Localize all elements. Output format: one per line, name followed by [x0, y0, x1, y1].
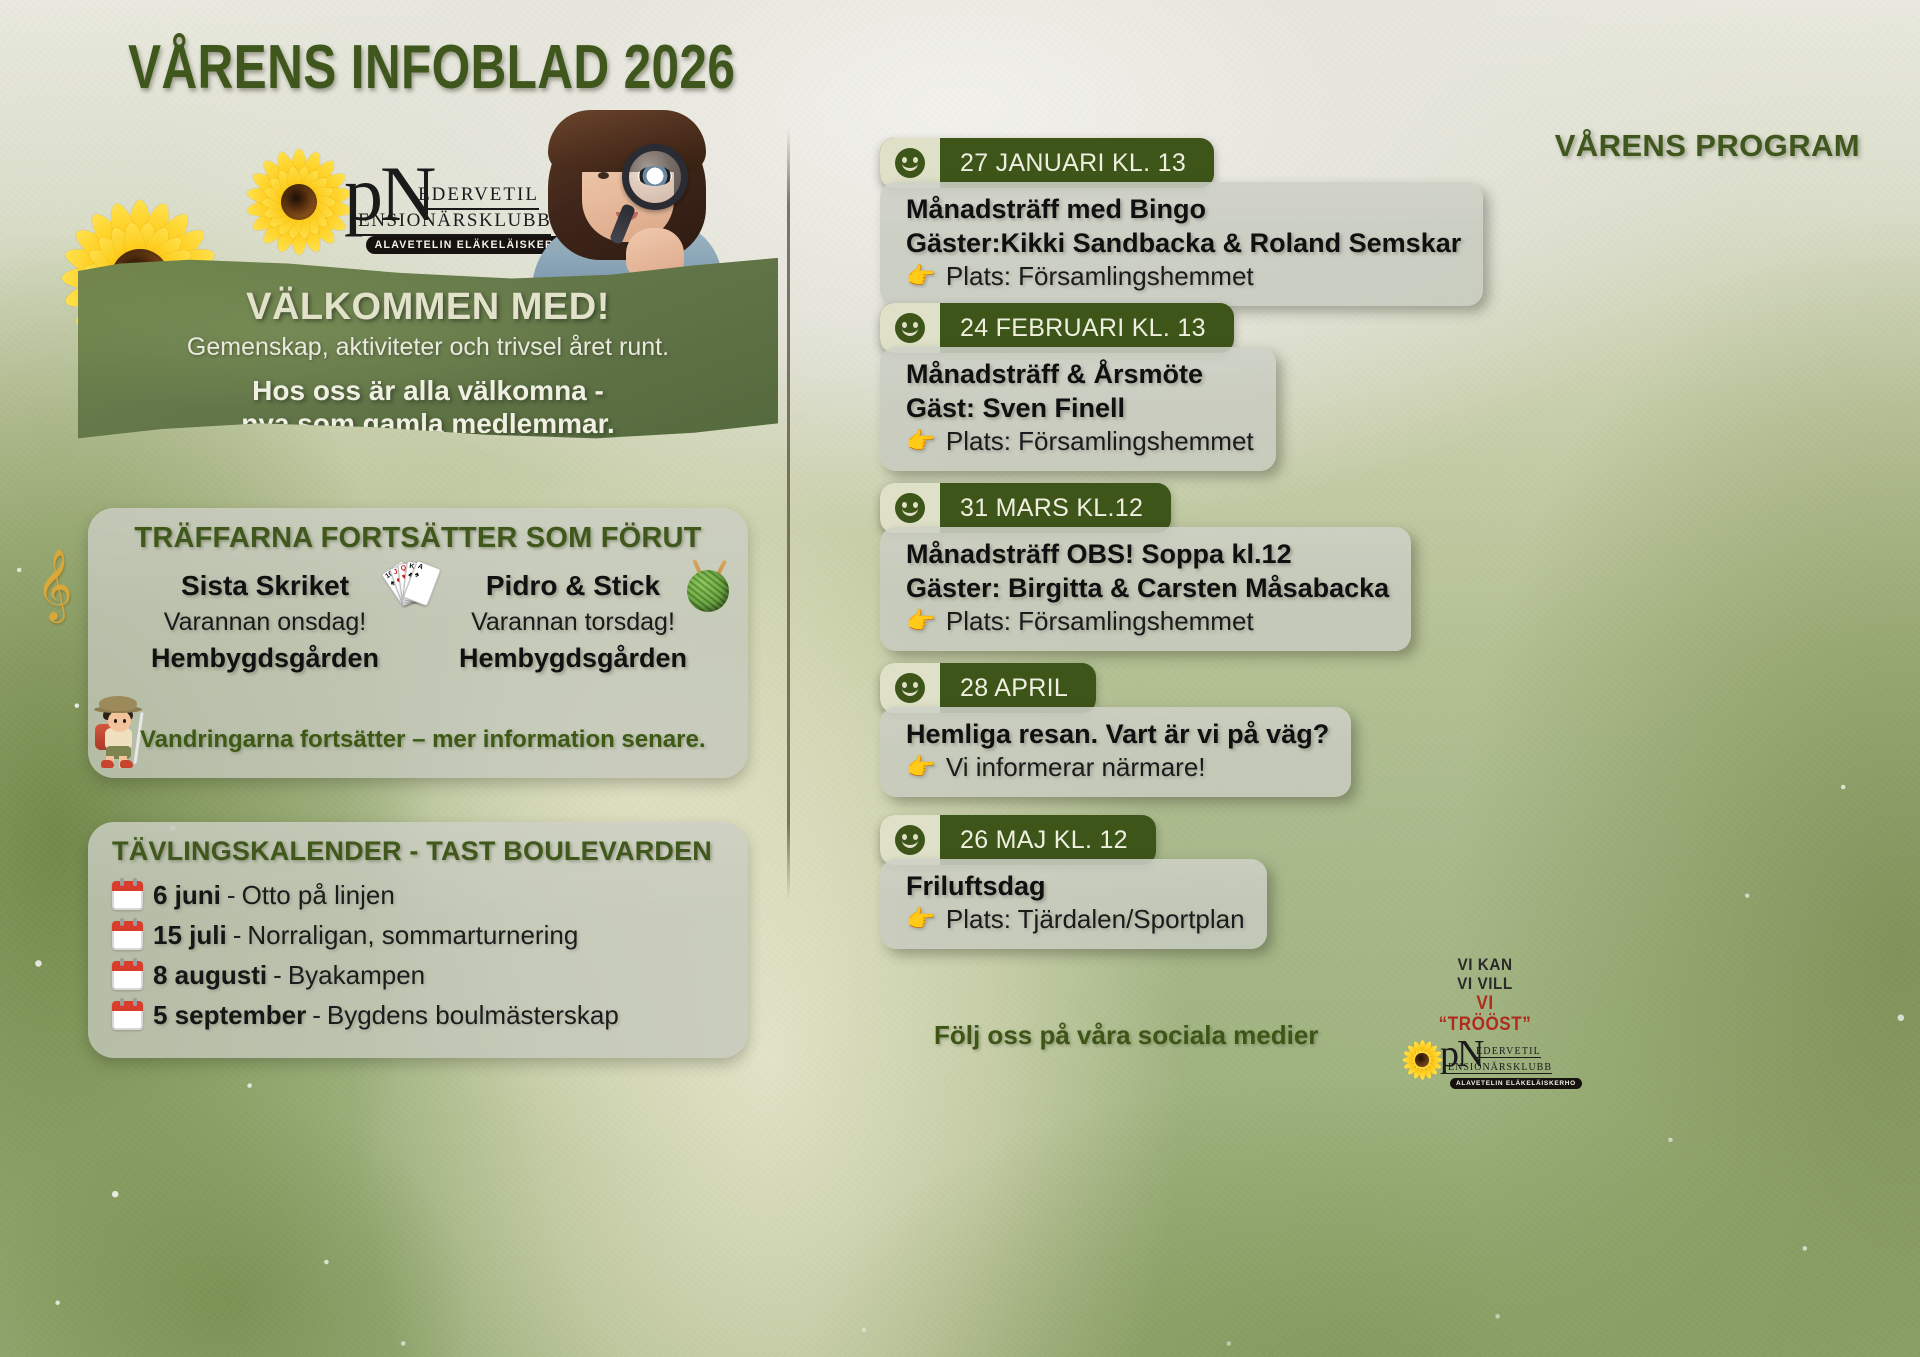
- event-date: 24 FEBRUARI KL. 13: [940, 314, 1206, 343]
- event-details: Friluftsdag 👉 Plats: Tjärdalen/Sportplan: [880, 859, 1267, 949]
- list-item: 5 september - Bygdens boulmästerskap: [112, 1000, 619, 1031]
- event-date-badge: 27 JANUARI KL. 13: [880, 138, 1214, 188]
- calendar-icon: [112, 921, 143, 950]
- list-item: 6 juni - Otto på linjen: [112, 880, 619, 911]
- activity-where: Hembygdsgården: [110, 643, 420, 674]
- event-line: Gäster: Birgitta & Carsten Måsabacka: [906, 571, 1389, 605]
- treble-clef-icon: 𝄞: [36, 554, 73, 616]
- club-logo: pN EDERVETIL ENSIONÄRSKLUBB ALAVETELIN E…: [344, 152, 559, 262]
- program-event: 26 MAJ KL. 12 Friluftsdag 👉 Plats: Tjärd…: [880, 815, 1267, 949]
- page-title: VÅRENS INFOBLAD 2026: [128, 32, 735, 103]
- pointing-hand-icon: 👉: [906, 426, 936, 457]
- logo-line-nedervetil: EDERVETIL: [418, 184, 539, 210]
- traffarna-column-pidro-stick: Pidro & Stick Varannan torsdag! Hembygds…: [418, 570, 728, 674]
- event-date-badge: 26 MAJ KL. 12: [880, 815, 1156, 865]
- newsletter-poster: VÅRENS INFOBLAD 2026 pN EDERVETIL ENSION…: [0, 0, 1920, 1357]
- activity-where: Hembygdsgården: [418, 643, 728, 674]
- welcome-subheading: Gemenskap, aktiviteter och trivsel året …: [78, 333, 778, 362]
- competition-name: Otto på linjen: [242, 880, 395, 911]
- event-place-text: Vi informerar närmare!: [946, 751, 1206, 785]
- event-line: Friluftsdag: [906, 869, 1245, 903]
- pointing-hand-icon: 👉: [906, 261, 936, 292]
- competition-date: 8 augusti: [153, 960, 267, 991]
- footer-logo-line-finnish: ALAVETELIN ELÄKELÄISKERHO: [1450, 1078, 1582, 1089]
- event-line: Månadsträff med Bingo: [906, 192, 1461, 226]
- event-date-badge: 28 APRIL: [880, 663, 1096, 713]
- smiley-icon: [880, 483, 940, 533]
- event-place: 👉 Plats: Tjärdalen/Sportplan: [906, 903, 1245, 937]
- traffarna-title: TRÄFFARNA FORTSÄTTER SOM FÖRUT: [88, 522, 748, 555]
- calendar-icon: [112, 961, 143, 990]
- event-place-text: Plats: Församlingshemmet: [946, 605, 1254, 639]
- smiley-icon: [880, 303, 940, 353]
- event-place: 👉 Vi informerar närmare!: [906, 751, 1329, 785]
- event-details: Månadsträff med Bingo Gäster:Kikki Sandb…: [880, 182, 1483, 306]
- program-event: 27 JANUARI KL. 13 Månadsträff med Bingo …: [880, 138, 1483, 306]
- program-event: 31 MARS KL.12 Månadsträff OBS! Soppa kl.…: [880, 483, 1411, 651]
- knitting-yarn-icon: [683, 560, 735, 612]
- competition-date: 6 juni: [153, 880, 221, 911]
- competition-name: Norraligan, sommarturnering: [247, 920, 578, 951]
- activity-when: Varannan torsdag!: [418, 608, 728, 637]
- list-item: 15 juli - Norraligan, sommarturnering: [112, 920, 619, 951]
- sunflower-small-icon: [245, 148, 353, 256]
- event-date: 26 MAJ KL. 12: [940, 826, 1128, 855]
- column-divider: [787, 128, 790, 900]
- traffarna-column-sista-skriket: Sista Skriket Varannan onsdag! Hembygdsg…: [110, 570, 420, 674]
- event-place-text: Plats: Tjärdalen/Sportplan: [946, 903, 1245, 937]
- event-place-text: Plats: Församlingshemmet: [946, 260, 1254, 294]
- social-media-note: Följ oss på våra sociala medier: [934, 1020, 1318, 1051]
- competition-date: 5 september: [153, 1000, 306, 1031]
- event-place: 👉 Plats: Församlingshemmet: [906, 260, 1461, 294]
- event-details: Hemliga resan. Vart är vi på väg? 👉 Vi i…: [880, 707, 1351, 797]
- pointing-hand-icon: 👉: [906, 752, 936, 783]
- woman-with-magnifier-photo: [530, 108, 720, 278]
- event-line: Månadsträff OBS! Soppa kl.12: [906, 537, 1389, 571]
- smiley-icon: [880, 663, 940, 713]
- event-date-badge: 24 FEBRUARI KL. 13: [880, 303, 1234, 353]
- event-line: Gäster:Kikki Sandbacka & Roland Semskar: [906, 226, 1461, 260]
- event-place-text: Plats: Församlingshemmet: [946, 425, 1254, 459]
- competition-name: Bygdens boulmästerskap: [327, 1000, 619, 1031]
- program-event: 28 APRIL Hemliga resan. Vart är vi på vä…: [880, 663, 1351, 797]
- calendar-icon: [112, 881, 143, 910]
- event-date: 28 APRIL: [940, 674, 1068, 703]
- tavlingskalender-list: 6 juni - Otto på linjen 15 juli - Norral…: [112, 880, 619, 1040]
- list-item: 8 augusti - Byakampen: [112, 960, 619, 991]
- competition-date: 15 juli: [153, 920, 227, 951]
- event-date-badge: 31 MARS KL.12: [880, 483, 1171, 533]
- event-details: Månadsträff & Årsmöte Gäst: Sven Finell …: [880, 347, 1276, 471]
- event-place: 👉 Plats: Församlingshemmet: [906, 605, 1389, 639]
- smiley-icon: [880, 138, 940, 188]
- calendar-icon: [112, 1001, 143, 1030]
- activity-name: Pidro & Stick: [418, 570, 728, 602]
- footer-logo-line-nedervetil: EDERVETIL: [1476, 1046, 1541, 1058]
- pointing-hand-icon: 👉: [906, 606, 936, 637]
- welcome-heading: VÄLKOMMEN MED!: [78, 286, 778, 329]
- slogan-line-3: VI “TRÖÖST”: [1436, 993, 1535, 1036]
- separator: -: [312, 1000, 321, 1031]
- logo-line-pensionarsklubb: ENSIONÄRSKLUBB: [358, 210, 551, 236]
- slogan-line-1: VI KAN: [1436, 955, 1535, 974]
- event-line: Hemliga resan. Vart är vi på väg?: [906, 717, 1329, 751]
- separator: -: [227, 880, 236, 911]
- welcome-banner: VÄLKOMMEN MED! Gemenskap, aktiviteter oc…: [78, 256, 778, 444]
- vandringarna-note: Vandringarna fortsätter – mer informatio…: [140, 726, 706, 754]
- pointing-hand-icon: 👉: [906, 904, 936, 935]
- program-event: 24 FEBRUARI KL. 13 Månadsträff & Årsmöte…: [880, 303, 1276, 471]
- smiley-icon: [880, 815, 940, 865]
- separator: -: [233, 920, 242, 951]
- activity-name: Sista Skriket: [110, 570, 420, 602]
- tavlingskalender-title: TÄVLINGSKALENDER - TAST BOULEVARDEN: [112, 836, 712, 867]
- event-line: Gäst: Sven Finell: [906, 391, 1254, 425]
- activity-when: Varannan onsdag!: [110, 608, 420, 637]
- sunflower-footer-icon: [1402, 1040, 1442, 1080]
- competition-name: Byakampen: [288, 960, 425, 991]
- event-date: 31 MARS KL.12: [940, 494, 1143, 523]
- welcome-bold-line-1: Hos oss är alla välkomna -: [78, 374, 778, 407]
- event-details: Månadsträff OBS! Soppa kl.12 Gäster: Bir…: [880, 527, 1411, 651]
- tavlingskalender-card: TÄVLINGSKALENDER - TAST BOULEVARDEN 6 ju…: [88, 822, 748, 1058]
- footer-logo-line-pensionarsklubb: ENSIONÄRSKLUBB: [1448, 1062, 1552, 1074]
- event-date: 27 JANUARI KL. 13: [940, 149, 1186, 178]
- footer-club-logo: pN EDERVETIL ENSIONÄRSKLUBB ALAVETELIN E…: [1398, 1032, 1558, 1096]
- playing-cards-icon: 10♠ J♦ Q♥ K♣ A♠: [388, 556, 454, 618]
- separator: -: [273, 960, 282, 991]
- program-title: VÅRENS PROGRAM: [1555, 128, 1860, 164]
- slogan-line-2: VI VILL: [1436, 974, 1535, 993]
- club-slogan: VI KAN VI VILL VI “TRÖÖST”: [1430, 955, 1540, 1036]
- event-line: Månadsträff & Årsmöte: [906, 357, 1254, 391]
- event-place: 👉 Plats: Församlingshemmet: [906, 425, 1254, 459]
